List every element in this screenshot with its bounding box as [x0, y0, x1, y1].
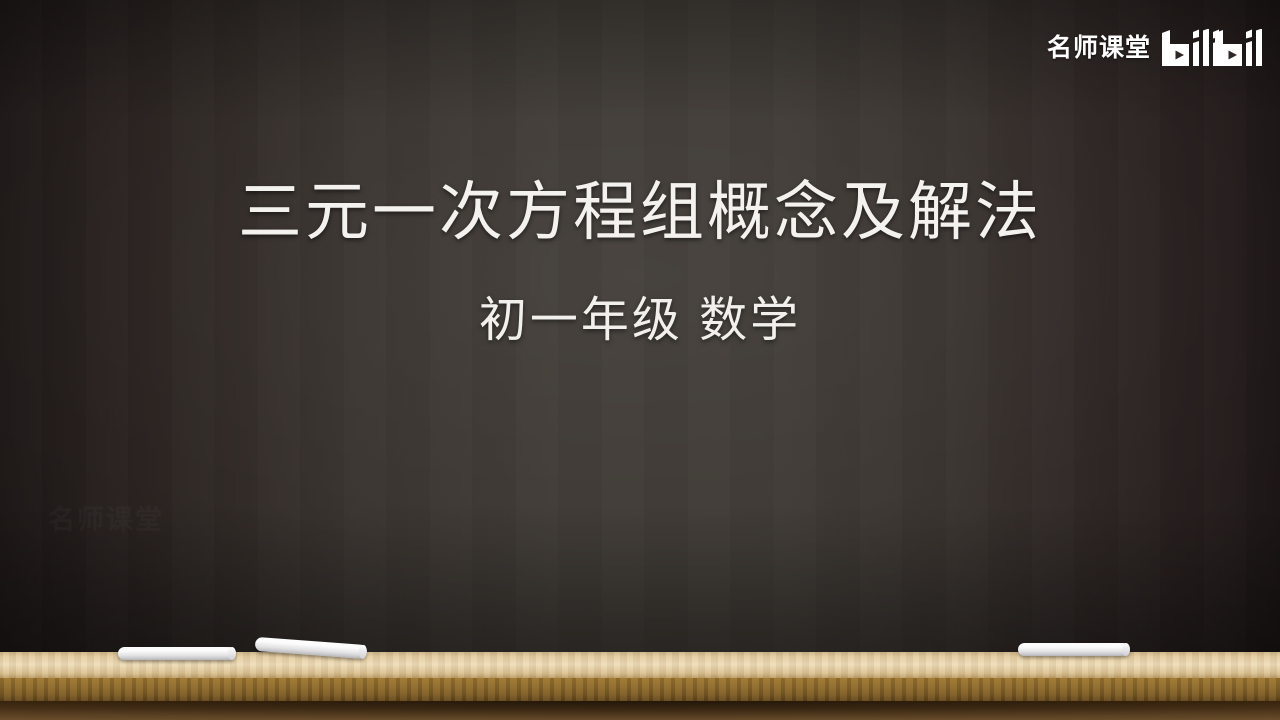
- lesson-subtitle: 初一年级 数学: [0, 292, 1280, 350]
- ledge-under-shadow: [0, 701, 1280, 720]
- brand-lockup: 名师课堂: [1047, 26, 1264, 70]
- chalk-stick: [1018, 643, 1130, 656]
- ledge-face-grain: [0, 678, 1280, 701]
- lesson-title: 三元一次方程组概念及解法: [0, 176, 1280, 250]
- board-watermark: 名师课堂: [48, 498, 164, 537]
- title-block: 三元一次方程组概念及解法 初一年级 数学: [0, 176, 1280, 349]
- lesson-title-slide: 名师课堂: [0, 0, 1280, 720]
- brand-channel-label: 名师课堂: [1047, 36, 1151, 61]
- blackboard-bottom-shading: [0, 504, 1280, 654]
- bilibili-logo: [1160, 29, 1264, 67]
- chalk-ledge: [0, 652, 1280, 720]
- ledge-front-face: [0, 678, 1280, 701]
- chalk-stick: [118, 647, 236, 660]
